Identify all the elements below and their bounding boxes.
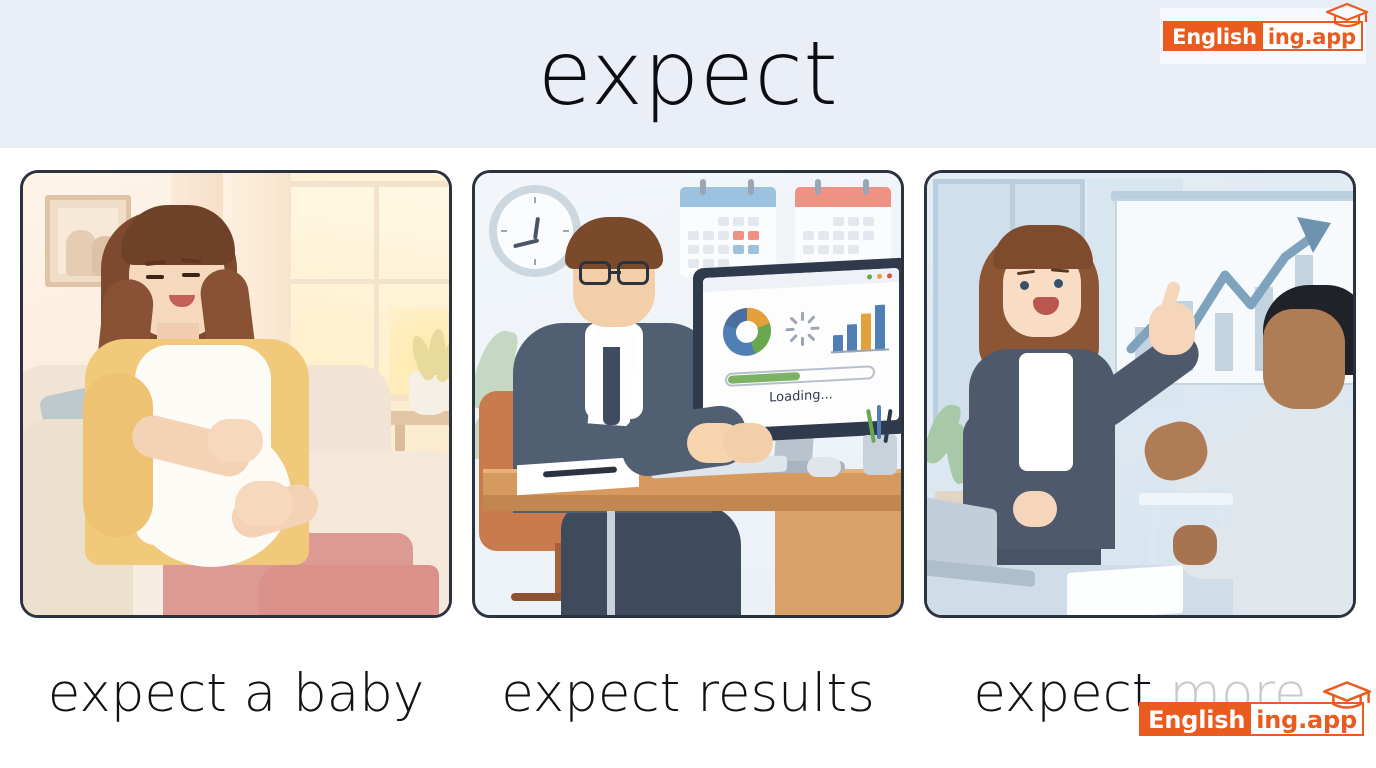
monitor-screen: Loading... [703, 268, 899, 430]
glasses-icon [579, 261, 611, 285]
loading-spinner-icon [783, 308, 823, 350]
loading-status-text: Loading... [703, 384, 899, 409]
brand-name-left: English [1165, 23, 1263, 49]
graduation-cap-icon [1325, 2, 1369, 28]
scene-presentation [927, 173, 1353, 615]
brand-watermark[interactable]: English ing.app [1139, 702, 1364, 736]
brand-logo[interactable]: English ing.app [1160, 8, 1366, 64]
brand-logo-badge: English ing.app [1163, 21, 1363, 51]
scene-businessman-computer: Loading... [475, 173, 901, 615]
wall-calendar-icon [680, 187, 776, 277]
stool-icon [1139, 493, 1233, 505]
panel-expect-more[interactable] [924, 170, 1356, 618]
glasses-icon [617, 261, 649, 285]
panel-expect-results[interactable]: Loading... [472, 170, 904, 618]
panel-expect-a-baby[interactable] [20, 170, 452, 618]
scene-pregnant-woman [23, 173, 449, 615]
pencil-cup-icon [863, 435, 897, 475]
mouse-icon [807, 457, 841, 477]
brand-watermark-badge: English ing.app [1139, 702, 1364, 736]
document-icon [1067, 565, 1183, 618]
page-title: expect [538, 30, 839, 118]
graduation-cap-icon [1322, 680, 1372, 710]
brand-name-left: English [1141, 704, 1251, 734]
bar-chart-icon [831, 302, 889, 353]
progress-bar [725, 365, 875, 387]
caption-expect-a-baby: expect a baby [20, 648, 452, 738]
illustration-panels: Loading... [0, 170, 1376, 620]
caption-expect-results: expect results [472, 648, 904, 738]
